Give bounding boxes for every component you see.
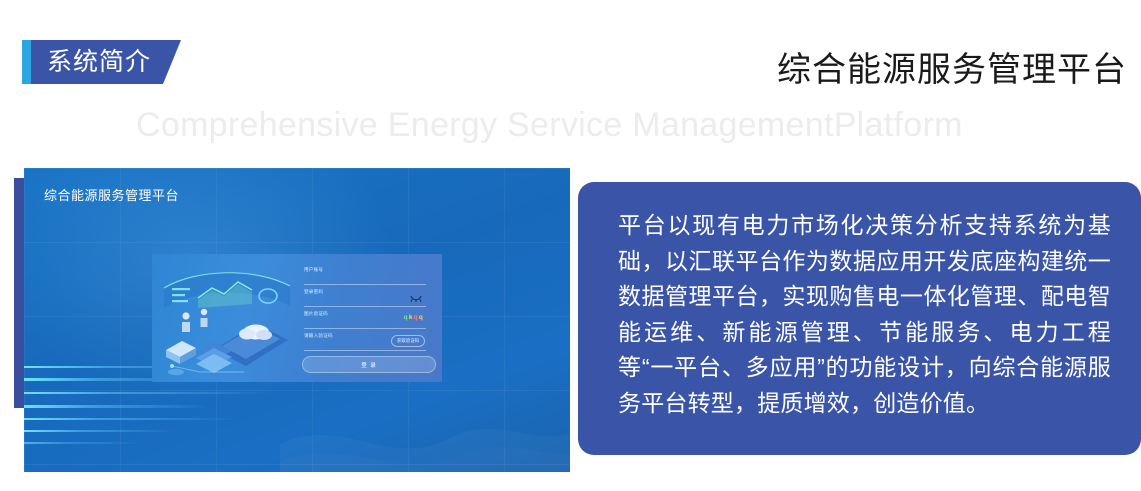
account-field[interactable]: 用户账号 — [304, 266, 430, 288]
isometric-illustration-svg — [152, 254, 300, 382]
field-underline — [304, 284, 426, 285]
captcha-char: q — [419, 314, 424, 321]
badge-label: 系统简介 — [31, 40, 181, 84]
info-paragraph: 平台以现有电力市场化决策分析支持系统为基础，以汇联平台作为数据应用开发底座构建统… — [618, 208, 1111, 421]
login-submit-button[interactable]: 登 录 — [302, 356, 436, 373]
captcha-image[interactable]: qkqq — [404, 314, 424, 321]
page-subtitle: Comprehensive Energy Service ManagementP… — [136, 106, 963, 145]
field-underline — [304, 306, 426, 307]
get-code-button[interactable]: 获取验证码 — [391, 335, 425, 347]
login-form: 用户账号 登录密码 图片验证码 qkqq — [300, 254, 442, 382]
password-field[interactable]: 登录密码 — [304, 288, 430, 310]
screenshot-app-title: 综合能源服务管理平台 — [44, 185, 179, 204]
slide-root: 系统简介 综合能源服务管理平台 Comprehensive Energy Ser… — [0, 0, 1141, 491]
field-underline — [304, 350, 426, 351]
field-underline — [304, 328, 426, 329]
product-screenshot: 综合能源服务管理平台 — [24, 168, 570, 472]
page-title: 综合能源服务管理平台 — [777, 42, 1127, 91]
section-badge: 系统简介 — [22, 40, 181, 84]
login-card: 用户账号 登录密码 图片验证码 qkqq — [152, 254, 442, 382]
login-illustration — [152, 254, 300, 382]
sms-code-field[interactable]: 请输入验证码 获取验证码 — [304, 332, 430, 354]
account-label: 用户账号 — [304, 266, 430, 274]
captcha-field[interactable]: 图片验证码 qkqq — [304, 310, 430, 332]
info-panel: 平台以现有电力市场化决策分析支持系统为基础，以汇联平台作为数据应用开发底座构建统… — [578, 182, 1141, 455]
eye-toggle-icon[interactable] — [410, 295, 422, 302]
badge-accent-bar — [22, 40, 31, 84]
